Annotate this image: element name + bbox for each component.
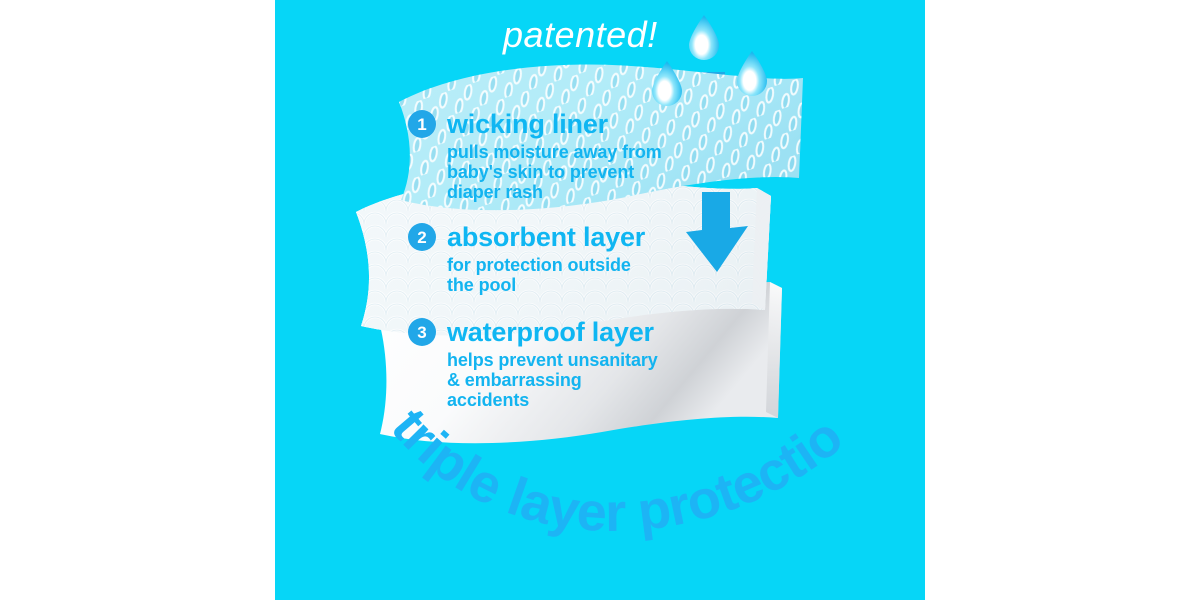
layer-1-description-line-3: diaper rash — [447, 182, 662, 202]
layer-3-description-line-2: & embarrassing — [447, 370, 658, 390]
patented-tagline: patented! — [503, 14, 658, 56]
layer-2-description-line-1: for protection outside — [447, 255, 645, 275]
layer-2-heading-row: 2 absorbent layer — [408, 223, 645, 251]
layer-2-number-badge: 2 — [408, 223, 436, 251]
layer-3-title: waterproof layer — [447, 319, 654, 346]
layer-1-description-line-2: baby's skin to prevent — [447, 162, 662, 182]
water-drop-1-icon — [687, 14, 721, 60]
layer-2-title: absorbent layer — [447, 224, 645, 251]
layer-3-description-line-1: helps prevent unsanitary — [447, 350, 658, 370]
layer-2-description-line-2: the pool — [447, 275, 645, 295]
layer-1-description: pulls moisture away from baby's skin to … — [447, 142, 662, 202]
layer-1-heading-row: 1 wicking liner — [408, 110, 662, 138]
water-drop-2-icon — [650, 60, 684, 106]
layer-2-description: for protection outside the pool — [447, 255, 645, 295]
layer-1-text-block: 1 wicking liner pulls moisture away from… — [408, 110, 662, 202]
layer-1-number-badge: 1 — [408, 110, 436, 138]
water-drop-3-icon — [735, 50, 769, 96]
infographic-canvas: patented! 1 wicking liner pulls moisture… — [0, 0, 1200, 600]
layer-3-heading-row: 3 waterproof layer — [408, 318, 658, 346]
down-arrow-head — [682, 192, 752, 279]
layer-1-title: wicking liner — [447, 111, 608, 138]
layer-1-description-line-1: pulls moisture away from — [447, 142, 662, 162]
layer-3-number-badge: 3 — [408, 318, 436, 346]
footer-wordmark: triple layer protection — [275, 390, 925, 600]
cyan-panel: patented! 1 wicking liner pulls moisture… — [275, 0, 925, 600]
layer-2-text-block: 2 absorbent layer for protection outside… — [408, 223, 645, 295]
